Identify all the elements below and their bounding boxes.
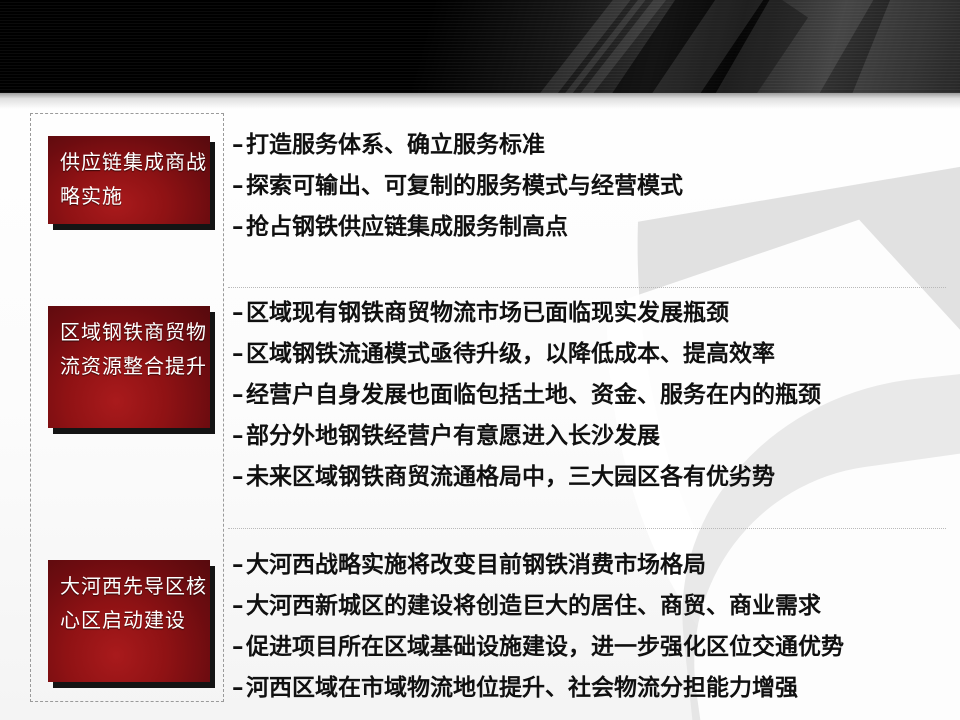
bullet-dash: – xyxy=(232,165,246,206)
bullet-dash: – xyxy=(232,206,246,247)
bullet-text: 抢占钢铁供应链集成服务制高点 xyxy=(246,213,568,240)
header-drop-shadow xyxy=(0,93,960,109)
bullet-item: –促进项目所在区域基础设施建设，进一步强化区位交通优势 xyxy=(232,626,956,667)
bullet-text: 大河西战略实施将改变目前钢铁消费市场格局 xyxy=(246,551,706,578)
bullet-dash: – xyxy=(232,333,246,374)
bullet-text: 大河西新城区的建设将创造巨大的居住、商贸、商业需求 xyxy=(246,592,821,619)
slide-header-bar xyxy=(0,0,960,93)
section-1-label[interactable]: 供应链集成商战略实施 xyxy=(48,136,210,224)
bullet-text: 打造服务体系、确立服务标准 xyxy=(246,131,545,158)
bullet-dash: – xyxy=(232,292,246,333)
bullet-item: –区域钢铁流通模式亟待升级，以降低成本、提高效率 xyxy=(232,333,956,374)
bullet-item: –大河西战略实施将改变目前钢铁消费市场格局 xyxy=(232,544,956,585)
bullet-text: 部分外地钢铁经营户有意愿进入长沙发展 xyxy=(246,422,660,449)
bullet-text: 区域现有钢铁商贸物流市场已面临现实发展瓶颈 xyxy=(246,299,729,326)
bullet-item: –探索可输出、可复制的服务模式与经营模式 xyxy=(232,165,956,206)
bullet-item: –区域现有钢铁商贸物流市场已面临现实发展瓶颈 xyxy=(232,292,956,333)
bullet-dash: – xyxy=(232,124,246,165)
bullet-item: –河西区域在市域物流地位提升、社会物流分担能力增强 xyxy=(232,667,956,708)
bullet-dash: – xyxy=(232,415,246,456)
bullet-dash: – xyxy=(232,456,246,497)
header-streak-6 xyxy=(817,0,960,93)
bullet-text: 探索可输出、可复制的服务模式与经营模式 xyxy=(246,172,683,199)
slide-canvas: （二）建设背景 供应链集成商战略实施 –打造服务体系、确立服务标准 –探索可输出… xyxy=(0,0,960,720)
section-divider-2 xyxy=(228,528,946,529)
bullet-text: 促进项目所在区域基础设施建设，进一步强化区位交通优势 xyxy=(246,633,844,660)
bullet-item: –抢占钢铁供应链集成服务制高点 xyxy=(232,206,956,247)
bullet-text: 区域钢铁流通模式亟待升级，以降低成本、提高效率 xyxy=(246,340,775,367)
section-3-bullet-list: –大河西战略实施将改变目前钢铁消费市场格局 –大河西新城区的建设将创造巨大的居住… xyxy=(232,544,956,708)
bullet-item: –未来区域钢铁商贸流通格局中，三大园区各有优劣势 xyxy=(232,456,956,497)
bullet-dash: – xyxy=(232,626,246,667)
bullet-text: 经营户自身发展也面临包括土地、资金、服务在内的瓶颈 xyxy=(246,381,821,408)
bullet-text: 河西区域在市域物流地位提升、社会物流分担能力增强 xyxy=(246,674,798,701)
section-1-bullet-list: –打造服务体系、确立服务标准 –探索可输出、可复制的服务模式与经营模式 –抢占钢… xyxy=(232,124,956,247)
section-3: 大河西先导区核心区启动建设 –大河西战略实施将改变目前钢铁消费市场格局 –大河西… xyxy=(0,540,960,705)
header-dark-wedge xyxy=(552,0,808,93)
bullet-item: –部分外地钢铁经营户有意愿进入长沙发展 xyxy=(232,415,956,456)
bullet-item: –经营户自身发展也面临包括土地、资金、服务在内的瓶颈 xyxy=(232,374,956,415)
bullet-item: –大河西新城区的建设将创造巨大的居住、商贸、商业需求 xyxy=(232,585,956,626)
bullet-dash: – xyxy=(232,374,246,415)
bullet-dash: – xyxy=(232,667,246,708)
section-3-label[interactable]: 大河西先导区核心区启动建设 xyxy=(48,560,210,682)
section-2-label[interactable]: 区域钢铁商贸物流资源整合提升 xyxy=(48,306,210,428)
bullet-dash: – xyxy=(232,544,246,585)
bullet-text: 未来区域钢铁商贸流通格局中，三大园区各有优劣势 xyxy=(246,463,775,490)
bullet-item: –打造服务体系、确立服务标准 xyxy=(232,124,956,165)
section-2-bullet-list: –区域现有钢铁商贸物流市场已面临现实发展瓶颈 –区域钢铁流通模式亟待升级，以降低… xyxy=(232,292,956,497)
bullet-dash: – xyxy=(232,585,246,626)
section-2: 区域钢铁商贸物流资源整合提升 –区域现有钢铁商贸物流市场已面临现实发展瓶颈 –区… xyxy=(0,288,960,513)
section-1: 供应链集成商战略实施 –打造服务体系、确立服务标准 –探索可输出、可复制的服务模… xyxy=(0,118,960,258)
